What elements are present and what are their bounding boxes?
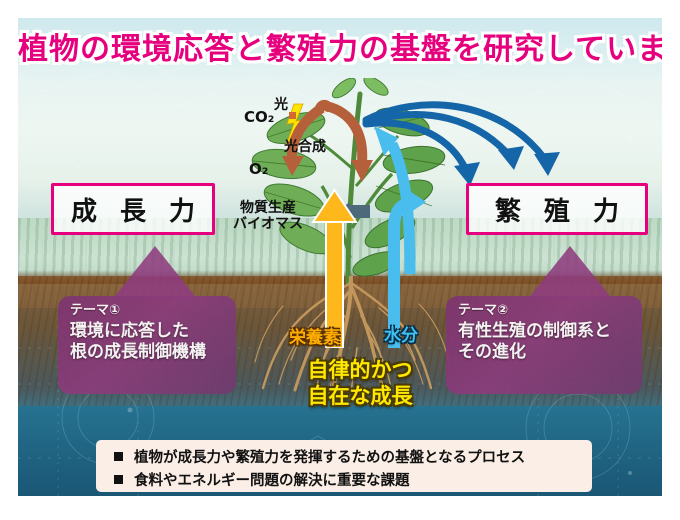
summary-panel: 植物が成長力や繁殖力を発揮するための基盤となるプロセス 食料やエネルギー問題の解… <box>96 440 592 492</box>
bullet-item: 植物が成長力や繁殖力を発揮するための基盤となるプロセス <box>96 446 592 467</box>
label-biomass-line1: 物質生産 <box>233 200 303 216</box>
bullet-item: 食料やエネルギー問題の解決に重要な課題 <box>96 469 592 490</box>
label-photosynthesis: 光合成 <box>284 136 326 156</box>
poster-canvas: 植物の環境応答と繁殖力の基盤を研究しています <box>18 18 662 496</box>
theme1-pointer-triangle <box>111 246 199 301</box>
arrowhead <box>534 152 560 176</box>
bullet-square-icon <box>114 452 123 461</box>
theme2-pointer-triangle <box>526 246 614 301</box>
label-autonomous-growth: 自律的かつ 自在な成長 <box>272 358 448 409</box>
label-o2: O₂ <box>249 160 268 178</box>
theme1-line1: 環境に応答した <box>70 321 226 342</box>
label-light: 光 <box>274 94 288 114</box>
bullet-square-icon <box>114 475 123 484</box>
label-nutrients: 栄養素 <box>289 323 340 348</box>
label-water: 水分 <box>384 321 418 346</box>
growth-power-box[interactable]: 成 長 力 <box>51 183 215 235</box>
arrowhead <box>498 146 524 170</box>
theme-card-1[interactable]: テーマ① 環境に応答した 根の成長制御機構 <box>58 296 236 394</box>
bullet-text-2: 食料やエネルギー問題の解決に重要な課題 <box>134 469 410 490</box>
theme2-label: テーマ② <box>458 304 632 319</box>
theme1-line2: 根の成長制御機構 <box>70 342 226 363</box>
label-co2: CO₂ <box>244 108 274 126</box>
bullet-text-1: 植物が成長力や繁殖力を発揮するための基盤となるプロセス <box>134 446 525 467</box>
theme1-label: テーマ① <box>70 304 226 319</box>
theme2-line2: その進化 <box>458 342 632 363</box>
label-autonomous-line1: 自律的かつ <box>272 358 448 384</box>
theme2-line1: 有性生殖の制御系と <box>458 321 632 342</box>
theme-card-2[interactable]: テーマ② 有性生殖の制御系と その進化 <box>446 296 642 394</box>
label-biomass: 物質生産 バイオマス <box>233 200 303 232</box>
label-biomass-line2: バイオマス <box>233 216 303 232</box>
page-title: 植物の環境応答と繁殖力の基盤を研究しています <box>18 24 662 68</box>
reproduction-feedback-arrow <box>348 104 428 274</box>
label-autonomous-line2: 自在な成長 <box>272 384 448 410</box>
reproduction-power-box[interactable]: 繁 殖 力 <box>466 183 648 235</box>
